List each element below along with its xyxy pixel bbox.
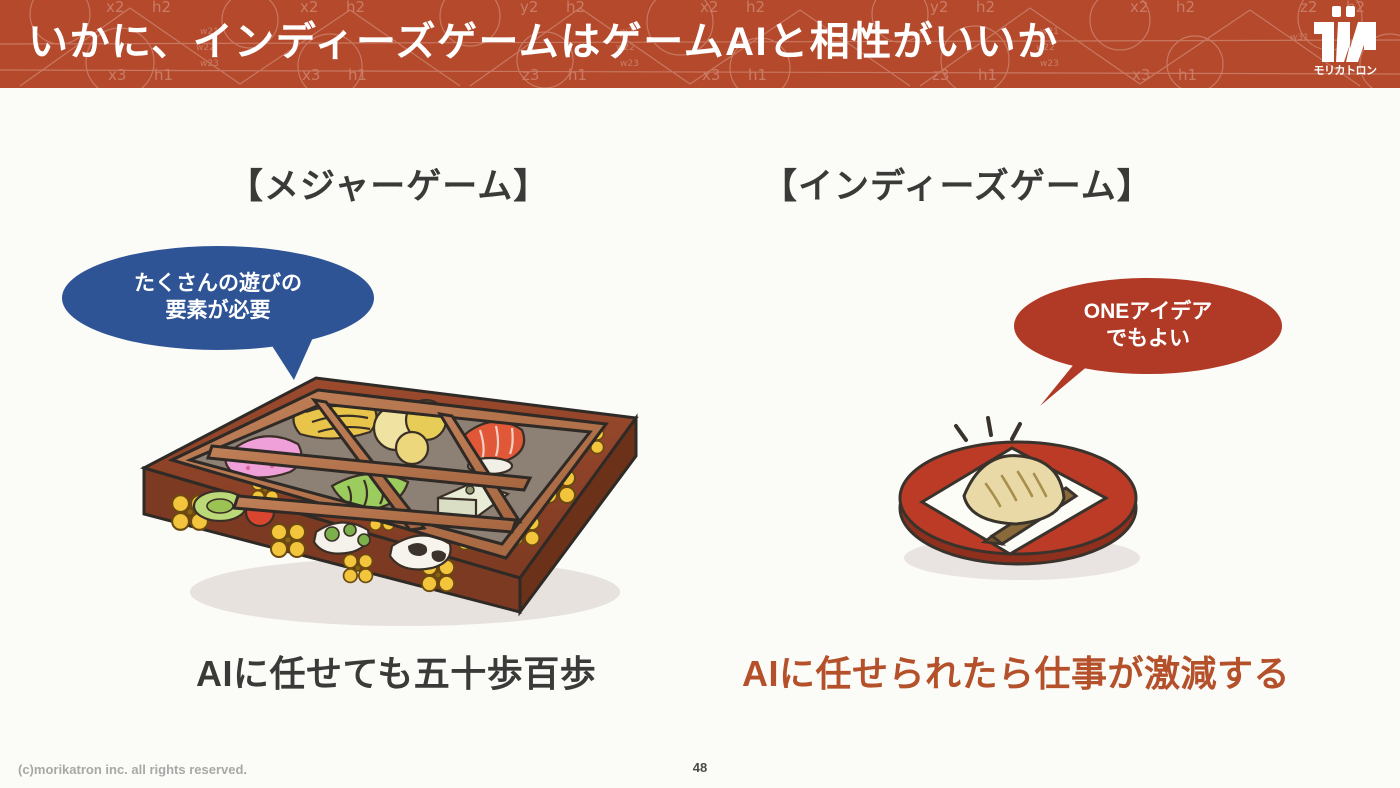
logo-text: モリカトロン bbox=[1306, 62, 1384, 78]
speech-bubble-major: たくさんの遊びの 要素が必要 bbox=[62, 246, 374, 350]
plate-with-bun-illustration bbox=[860, 390, 1180, 590]
caption-major-game: AIに任せても五十歩百歩 bbox=[196, 645, 596, 697]
svg-text:h2: h2 bbox=[1176, 0, 1195, 16]
morikatron-logo: モリカトロン bbox=[1306, 4, 1384, 84]
svg-text:x2: x2 bbox=[1130, 0, 1148, 16]
slide-header: x2h2 x3h1 x2h2 x3h1 y2h2 z3h1 x2h2 x3h1 … bbox=[0, 0, 1400, 88]
slide-root: x2h2 x3h1 x2h2 x3h1 y2h2 z3h1 x2h2 x3h1 … bbox=[0, 0, 1400, 788]
bubble-line-1: たくさんの遊びの bbox=[134, 271, 302, 298]
bubble-line-2: 要素が必要 bbox=[166, 298, 271, 325]
page-number: 48 bbox=[0, 760, 1400, 775]
morikatron-mark-icon bbox=[1306, 4, 1384, 64]
bubble-line-1: ONEアイデア bbox=[1084, 299, 1212, 326]
page-title: いかに、インディーズゲームはゲームAIと相性がいいか bbox=[28, 0, 1059, 88]
caption-indie-game: AIに任せられたら仕事が激減する bbox=[742, 645, 1290, 697]
heading-indie-game: 【インディーズゲーム】 bbox=[762, 158, 1153, 209]
svg-text:x3: x3 bbox=[1132, 66, 1150, 84]
heading-major-game: 【メジャーゲーム】 bbox=[228, 158, 549, 209]
bubble-line-2: でもよい bbox=[1106, 326, 1190, 353]
svg-text:h1: h1 bbox=[1178, 66, 1197, 84]
speech-bubble-indie: ONEアイデア でもよい bbox=[1014, 278, 1282, 374]
